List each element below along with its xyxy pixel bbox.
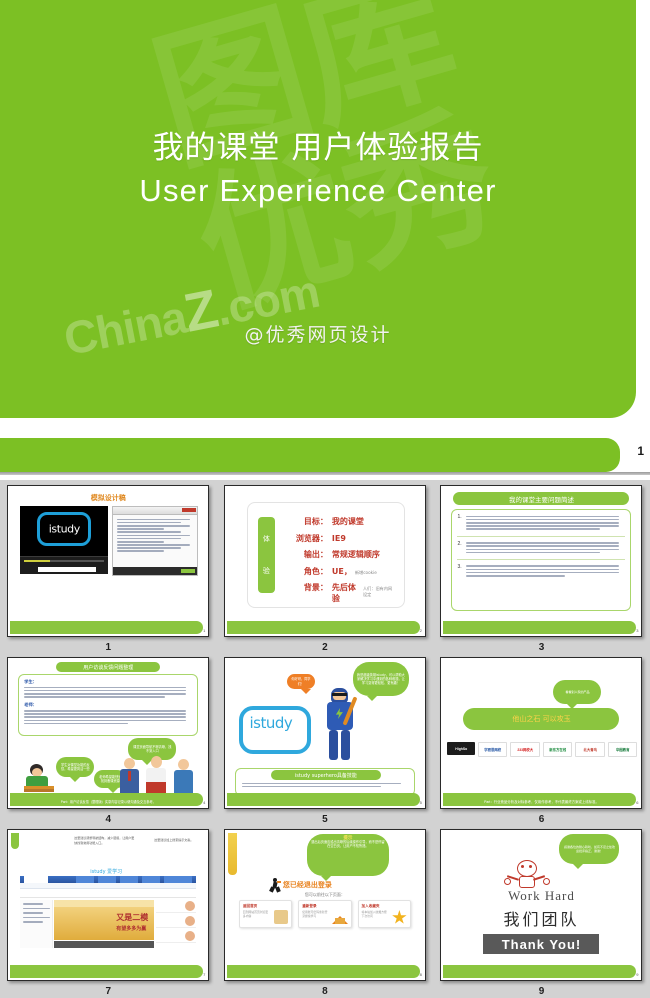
logo-highso: HighSo (447, 742, 475, 755)
thumbnail-cell-6[interactable]: 看看别人家的产品 他山之石 可以攻玉 HighSo 学而思网校 233网校大 新… (433, 653, 650, 825)
slide-thumb-7[interactable]: 这里建议调整导航结构，减少层级，让用户更快找到常用功能入口。 这里建议加上搜索提… (7, 829, 209, 981)
slide2-rows: 目标： 我的课堂 浏览器： IE9 输出： 常规逻辑顺序 角色： (282, 516, 396, 610)
card-login[interactable]: 重新登录 使用账号密码重新登录继续学习 (298, 900, 351, 928)
row-value: 常规逻辑顺序 (332, 549, 380, 560)
slide2-page-number: 2 (420, 628, 422, 633)
window-titlebar (113, 507, 197, 515)
banner-sub: 有望多多为赢 (116, 926, 146, 932)
superhero-illustration (321, 688, 359, 762)
handwriting-text: 我们团队 (441, 906, 641, 930)
item-number: 2. (457, 541, 466, 555)
item-body (466, 564, 625, 578)
page-title-cn: 我的课堂 用户体验报告 (0, 128, 636, 168)
row-key: 角色： (282, 566, 328, 577)
document-body (117, 517, 193, 565)
site-cta-bar[interactable] (54, 941, 154, 948)
hero-slide: 图库优秀 我的课堂 用户体验报告 User Experience Center … (0, 0, 636, 418)
slide1-title: 模拟设计稿 (8, 493, 208, 503)
bubble-green: 我是超级英雄istudy，可以帮助大家解决学习中遇到的各种难题，让学习变得更轻松… (353, 662, 409, 696)
card-title: 加入收藏夹 (362, 904, 407, 909)
slide-thumb-2[interactable]: 体验 目标： 我的课堂 浏览器： IE9 输出： 常规逻辑 (224, 485, 426, 637)
hero-footer-zone: 1 (0, 420, 650, 480)
star-icon (392, 910, 407, 925)
feedback-bubble-1: 学生对课堂功能的反馈，希望更简洁一些 (56, 757, 94, 777)
site-right-column (156, 900, 196, 948)
logo-233: 233网校大 (510, 742, 540, 757)
slide1-page-number: 1 (203, 628, 205, 633)
page-title-en: User Experience Center (0, 170, 636, 212)
student-label: 学生： (24, 679, 192, 685)
mascot-icon (503, 858, 549, 890)
section-divider (0, 472, 650, 475)
running-man-icon (269, 878, 281, 892)
video-select-input[interactable] (38, 567, 96, 572)
slide-thumb-5[interactable]: 你好呀，同学们！ 我是超级英雄istudy，可以帮助大家解决学习中遇到的各种难题… (224, 657, 426, 809)
hero-subtitle: @优秀网页设计 (0, 320, 636, 347)
partner-logos: HighSo 学而思网校 233网校大 新东方在线 北大青鸟 华图教育 (447, 742, 637, 755)
site-sidebar (20, 900, 53, 948)
table-row: 角色： UE， 新增cookie (282, 566, 396, 577)
slide1-footer-bar (10, 621, 203, 634)
card-title: 返回首页 (243, 904, 288, 909)
card-desc: 回到网站首页浏览更多内容 (243, 910, 269, 918)
table-row: 浏览器： IE9 (282, 533, 396, 544)
card-desc: 使用账号密码重新登录继续学习 (302, 910, 328, 918)
slide-thumb-6[interactable]: 看看别人家的产品 他山之石 可以攻玉 HighSo 学而思网校 233网校大 新… (440, 657, 642, 809)
row-value: 先后体验 (332, 582, 360, 604)
site-logo: istudy 爱学习 (90, 868, 122, 875)
row-note: 人们：旧有内网设定 (363, 586, 396, 598)
item-number: 1. (457, 514, 466, 532)
thumbnail-cell-2[interactable]: 体验 目标： 我的课堂 浏览器： IE9 输出： 常规逻辑 (217, 481, 434, 653)
card-favorite[interactable]: 加入收藏夹 将本站加入收藏方便下次访问 (358, 900, 411, 928)
site-nav[interactable] (20, 876, 196, 883)
slide8-corner-tab (228, 833, 237, 875)
istudy-logo-text: istudy (49, 523, 80, 536)
row-value: IE9 (332, 534, 346, 543)
thumbnail-number-9: 9 (433, 986, 650, 997)
hero-page-number: 1 (637, 444, 644, 458)
slide3-page-number: 3 (636, 628, 638, 633)
list-item: 1. (457, 514, 625, 532)
submit-button (181, 569, 195, 573)
row-key: 浏览器： (282, 533, 328, 544)
hero-title-block: 我的课堂 用户体验报告 User Experience Center (0, 128, 636, 212)
table-row: 输出： 常规逻辑顺序 (282, 549, 396, 560)
slide3-footer-bar (443, 621, 636, 634)
slide-thumb-8[interactable]: 提示 退出后页面应给出清晰的后续操作引导，而不是停留在空白页，让用户不知所措。 … (224, 829, 426, 981)
list-item: 3. (457, 564, 625, 578)
slide-thumb-3[interactable]: 我的课堂主要问题简述 1. 2. (440, 485, 642, 637)
slide5-title: istudy superhero具备技能 (271, 770, 381, 780)
thumbnail-cell-3[interactable]: 我的课堂主要问题简述 1. 2. (433, 481, 650, 653)
row-value: 我的课堂 (332, 516, 364, 527)
card-home[interactable]: 返回首页 回到网站首页浏览更多内容 (239, 900, 292, 928)
slide2-side-tab: 体验 (258, 517, 275, 593)
item-body (466, 541, 625, 555)
slide6-page-number: 6 (636, 800, 638, 805)
slide8-bubble: 提示 退出后页面应给出清晰的后续操作引导，而不是停留在空白页，让用户不知所措。 (307, 834, 389, 876)
istudy-logo-text: istudy (243, 714, 299, 732)
thumbnail-cell-7[interactable]: 这里建议调整导航结构，减少层级，让用户更快找到常用功能入口。 这里建议加上搜索提… (0, 825, 217, 997)
thumbnail-number-8: 8 (217, 986, 434, 997)
slide7-page-number: 7 (203, 972, 205, 977)
card-desc: 将本站加入收藏方便下次访问 (362, 910, 388, 918)
thumbnail-number-5: 5 (217, 814, 434, 825)
slide4-content-box: 学生： 老师： (18, 674, 198, 736)
slide7-annotation-right: 这里建议加上搜索提示文案。 (154, 838, 194, 843)
slide8-footer-bar (227, 965, 420, 978)
logo-beida: 北大青鸟 (575, 742, 605, 757)
thumbnail-cell-4[interactable]: 用户访谈反馈问题整理 学生： 老师： 课堂页面导航不够清晰，找不到入口 学生对课… (0, 653, 217, 825)
slide-thumbnail-grid: 模拟设计稿 istudy (0, 481, 650, 998)
slide7-footer-bar (10, 965, 203, 978)
slide3-content-box: 1. 2. (451, 509, 631, 611)
row-key: 背景： (282, 582, 328, 593)
thumbnail-number-6: 6 (433, 814, 650, 825)
row-key: 输出： (282, 549, 328, 560)
thumbnail-row-2: 用户访谈反馈问题整理 学生： 老师： 课堂页面导航不够清晰，找不到入口 学生对课… (0, 653, 650, 825)
logo-xindongfang: 新东方在线 (543, 742, 573, 757)
thank-you-text: Thank You! (483, 934, 599, 954)
watermark-chinaz: ChinaZ.com (58, 258, 323, 368)
slide7-corner-tab (11, 833, 19, 849)
hero-footer-bar (0, 438, 620, 472)
thumbnail-number-2: 2 (217, 642, 434, 653)
row-note: 新增cookie (355, 570, 377, 576)
video-controls (20, 556, 108, 574)
work-hard-text: Work Hard (441, 888, 641, 904)
teachers-illustration (120, 758, 196, 794)
card-title: 重新登录 (302, 904, 347, 909)
slide6-bubble: 看看别人家的产品 (553, 680, 601, 704)
thumbnail-cell-9[interactable]: 感谢各位的耐心聆听，如有不足之处欢迎批评指正，谢谢！ Work Hard 我们团… (433, 825, 650, 997)
thumbnail-cell-1[interactable]: 模拟设计稿 istudy (0, 481, 217, 653)
slide3-title: 我的课堂主要问题简述 (453, 492, 629, 505)
slide4-footer-note: Part：用户访谈反馈（整理版）实录内容记录以便沟通及交互参考。 (20, 799, 196, 804)
slide1-document-window (112, 506, 198, 576)
bubble-header: 提示 (307, 836, 389, 842)
close-icon (182, 508, 196, 512)
slide4-title: 用户访谈反馈问题整理 (56, 662, 160, 672)
slide7-annotation-top: 这里建议调整导航结构，减少层级，让用户更快找到常用功能入口。 (74, 836, 134, 845)
slide-thumb-1[interactable]: 模拟设计稿 istudy (7, 485, 209, 637)
slide8-subtitle: 您可以前往以下页面： (225, 892, 425, 898)
slide7-webpage-mock: istudy 爱学习 (20, 860, 196, 960)
table-row: 目标： 我的课堂 (282, 516, 396, 527)
window-toolbar (113, 567, 197, 575)
teacher-label: 老师： (24, 702, 192, 708)
slide8-title: 您已经退出登录 (283, 880, 332, 890)
slide2-footer-bar (227, 621, 420, 634)
slide-thumb-4[interactable]: 用户访谈反馈问题整理 学生： 老师： 课堂页面导航不够清晰，找不到入口 学生对课… (7, 657, 209, 809)
table-row: 背景： 先后体验 人们：旧有内网设定 (282, 582, 396, 604)
slide6-title: 他山之石 可以攻玉 (463, 708, 619, 730)
thumbnail-number-3: 3 (433, 642, 650, 653)
site-search-bar[interactable] (20, 889, 196, 898)
list-item: 2. (457, 541, 625, 555)
thumbnail-number-1: 1 (0, 642, 217, 653)
slide4-page-number: 4 (203, 800, 205, 805)
slide9-footer-bar (443, 965, 636, 978)
slide1-video-player: istudy (20, 506, 108, 574)
thumbnail-number-7: 7 (0, 986, 217, 997)
student-illustration (24, 764, 58, 792)
slide5-page-number: 5 (420, 800, 422, 805)
thumbnail-number-4: 4 (0, 814, 217, 825)
slide8-page-number: 8 (420, 972, 422, 977)
thumbnail-cell-8[interactable]: 提示 退出后页面应给出清晰的后续操作引导，而不是停留在空白页，让用户不知所措。 … (217, 825, 434, 997)
slide5-footer-bar (227, 793, 420, 806)
slide6-footer-note: Part：行业竞品分析及对标参考，仅用作参考，不代表最终方案或上线标准。 (453, 799, 629, 804)
bubble-orange: 你好呀，同学们！ (287, 674, 315, 689)
logo-xueersi: 学而思网校 (478, 742, 508, 757)
slide9-page-number: 9 (636, 972, 638, 977)
banner-title: 又是二模 (116, 913, 148, 922)
slide8-cards: 返回首页 回到网站首页浏览更多内容 重新登录 使用账号密码重新登录继续学习 加入… (239, 900, 411, 928)
site-banner[interactable]: 又是二模 有望多多为赢 (54, 900, 154, 940)
thumbnail-row-1: 模拟设计稿 istudy (0, 481, 650, 653)
thumbnail-row-3: 这里建议调整导航结构，减少层级，让用户更快找到常用功能入口。 这里建议加上搜索提… (0, 825, 650, 997)
item-number: 3. (457, 564, 466, 578)
row-key: 目标： (282, 516, 328, 527)
slide-thumb-9[interactable]: 感谢各位的耐心聆听，如有不足之处欢迎批评指正，谢谢！ Work Hard 我们团… (440, 829, 642, 981)
slide2-card: 体验 目标： 我的课堂 浏览器： IE9 输出： 常规逻辑 (247, 502, 405, 608)
current-slide-preview: 图库优秀 我的课堂 用户体验报告 User Experience Center … (0, 0, 650, 420)
video-progress-bar[interactable] (24, 560, 104, 562)
thumbnail-cell-5[interactable]: 你好呀，同学们！ 我是超级英雄istudy，可以帮助大家解决学习中遇到的各种难题… (217, 653, 434, 825)
row-value: UE， (332, 566, 352, 577)
bag-icon (274, 910, 288, 924)
slide9-bubble: 感谢各位的耐心聆听，如有不足之处欢迎批评指正，谢谢！ (559, 834, 619, 864)
logo-huatu: 华图教育 (608, 742, 638, 757)
item-body (466, 514, 625, 532)
